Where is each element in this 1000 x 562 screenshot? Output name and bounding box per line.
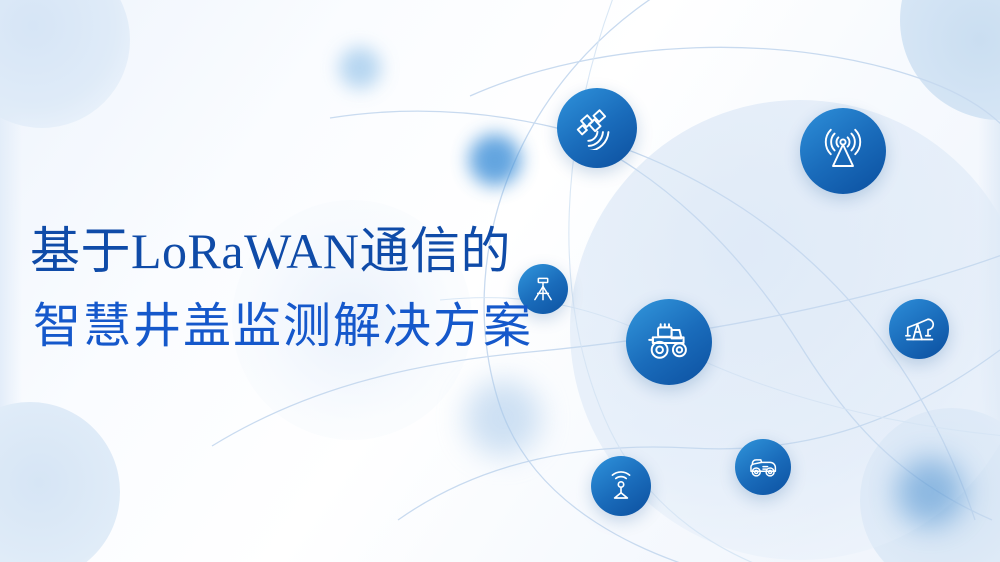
robot-mower-icon-node[interactable] <box>735 439 791 495</box>
page-title-line-1: 基于LoRaWAN通信的 <box>30 226 590 277</box>
oil-pumpjack-icon-node[interactable] <box>889 299 949 359</box>
glow-dot-upper <box>339 47 381 89</box>
glow-dot-lower <box>465 380 541 456</box>
gps-beacon-icon <box>603 468 639 504</box>
radio-tower-icon-node[interactable] <box>800 108 886 194</box>
tractor-icon <box>644 317 694 367</box>
tractor-icon-node[interactable] <box>626 299 712 385</box>
title-block: 基于LoRaWAN通信的 智慧井盖监测解决方案 <box>30 226 590 351</box>
page-title-line-2: 智慧井盖监测解决方案 <box>33 303 590 351</box>
glow-dot-mid <box>469 134 521 186</box>
slide-canvas: 基于LoRaWAN通信的 智慧井盖监测解决方案 <box>0 0 1000 562</box>
satellite-icon-node[interactable] <box>557 88 637 168</box>
oil-pumpjack-icon <box>901 311 937 347</box>
glow-dot-right <box>896 458 964 526</box>
robot-mower-icon <box>746 450 780 484</box>
radio-tower-icon <box>819 127 867 175</box>
satellite-icon <box>575 106 619 150</box>
gps-beacon-icon-node[interactable] <box>591 456 651 516</box>
